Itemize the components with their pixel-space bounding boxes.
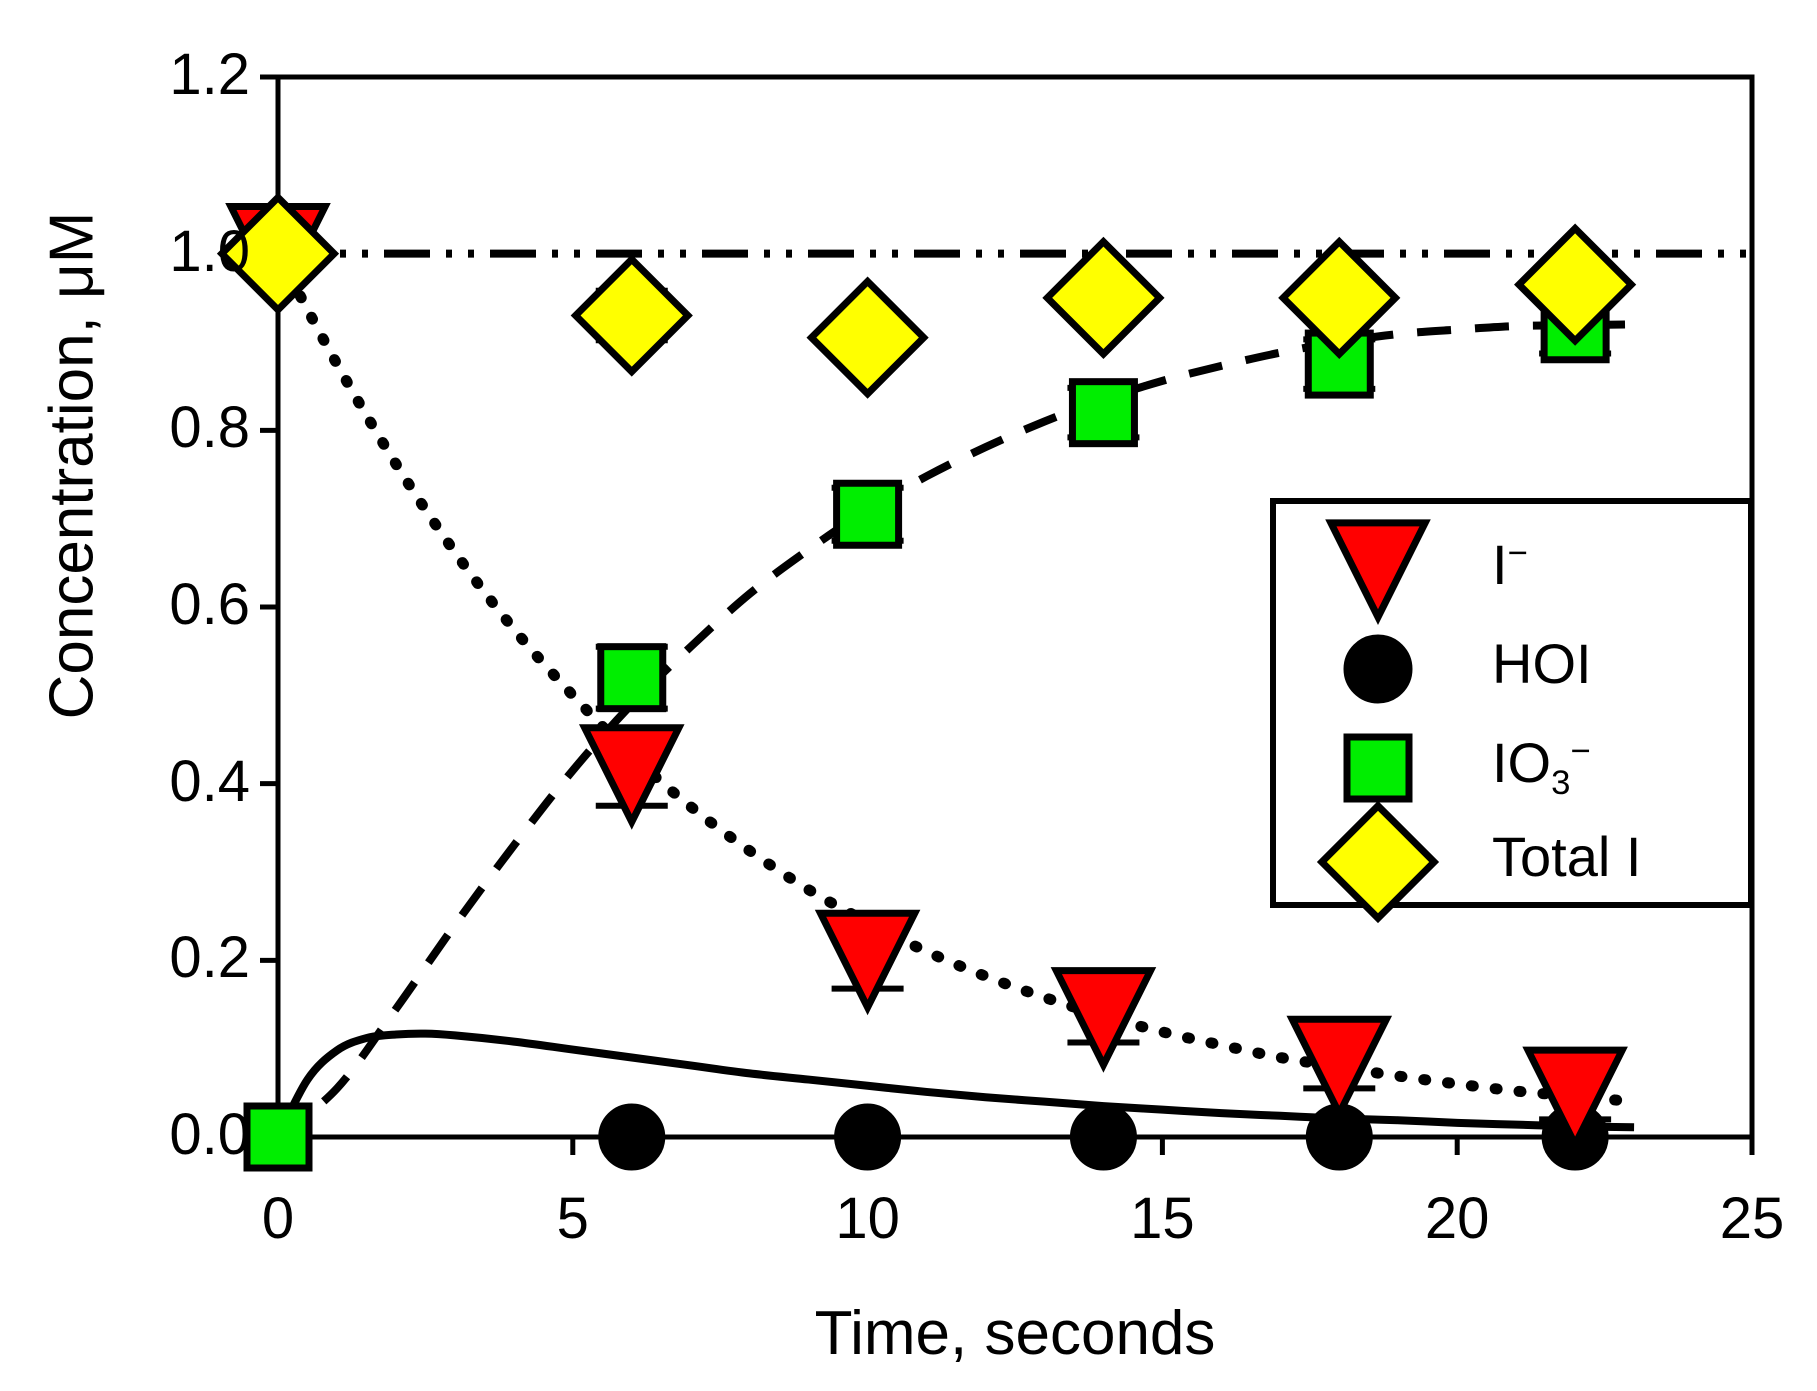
x-tick-label: 15 xyxy=(1082,1185,1242,1252)
data-point-hoi xyxy=(837,1106,899,1168)
data-point-io3- xyxy=(837,483,899,545)
x-tick-label: 10 xyxy=(788,1185,948,1252)
data-point-hoi xyxy=(1072,1106,1134,1168)
data-point-i- xyxy=(1056,971,1150,1065)
data-point-total-i xyxy=(811,281,923,393)
data-point-total-i xyxy=(1047,242,1159,354)
x-axis-title: Time, seconds xyxy=(278,1298,1752,1369)
x-tick-label: 25 xyxy=(1672,1185,1817,1252)
x-tick-label: 0 xyxy=(198,1185,358,1252)
data-point-io3- xyxy=(1072,382,1134,444)
data-point-i- xyxy=(820,913,914,1007)
legend-marker-2 xyxy=(1347,737,1409,799)
data-point-io3- xyxy=(601,647,663,709)
data-point-io3- xyxy=(247,1106,309,1168)
y-tick-label: 0.0 xyxy=(60,1101,250,1168)
data-point-hoi xyxy=(601,1106,663,1168)
x-tick-label: 20 xyxy=(1377,1185,1537,1252)
x-tick-label: 5 xyxy=(493,1185,653,1252)
y-tick-label: 1.2 xyxy=(60,41,250,108)
data-point-total-i xyxy=(576,259,688,371)
y-tick-label: 1.0 xyxy=(60,218,250,285)
legend-label-2: IO3− xyxy=(1492,730,1591,795)
chart-figure: Concentration, μM Time, seconds 0.00.20.… xyxy=(0,0,1817,1391)
legend-marker-1 xyxy=(1346,637,1410,701)
legend-label-1: HOI xyxy=(1492,631,1592,696)
y-tick-label: 0.2 xyxy=(60,924,250,991)
y-tick-label: 0.6 xyxy=(60,571,250,638)
fit-curve-hoi xyxy=(278,1034,1634,1137)
legend-label-0: I− xyxy=(1492,532,1528,597)
y-tick-label: 0.4 xyxy=(60,748,250,815)
y-tick-label: 0.8 xyxy=(60,394,250,461)
legend-label-3: Total I xyxy=(1492,824,1641,889)
